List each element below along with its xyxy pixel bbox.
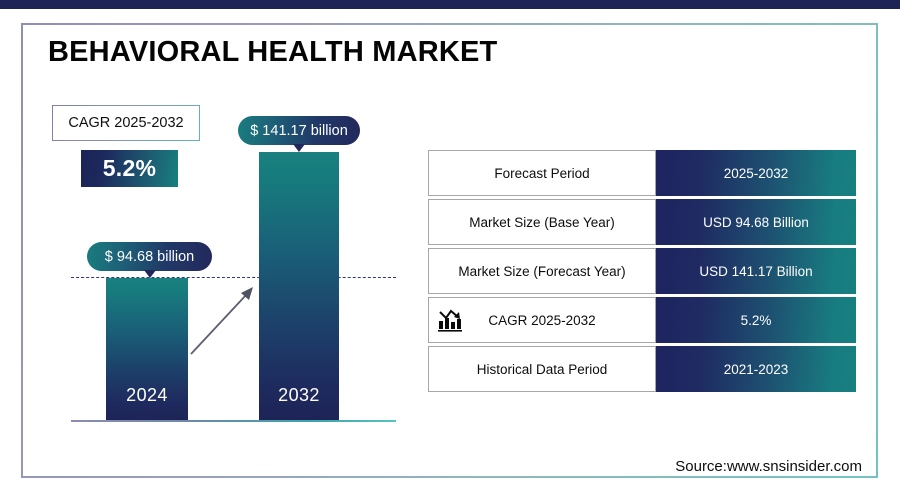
table-row-key-cell: Forecast Period (428, 150, 656, 196)
table-row-key: Market Size (Forecast Year) (458, 264, 625, 279)
table-row-value-cell: 2021-2023 (656, 346, 856, 392)
table-row: Market Size (Base Year) USD 94.68 Billio… (428, 199, 856, 245)
table-row-key-cell: CAGR 2025-2032 (428, 297, 656, 343)
table-row-key-cell: Historical Data Period (428, 346, 656, 392)
table-row-key: Market Size (Base Year) (469, 215, 615, 230)
table-row: Market Size (Forecast Year) USD 141.17 B… (428, 248, 856, 294)
table-row: Forecast Period 2025-2032 (428, 150, 856, 196)
table-row-key: Historical Data Period (477, 362, 608, 377)
infographic-canvas: BEHAVIORAL HEALTH MARKET CAGR 2025-2032 … (0, 0, 900, 500)
table-row-value-cell: 5.2% (656, 297, 856, 343)
table-row: CAGR 2025-2032 5.2% (428, 297, 856, 343)
chart-baseline-axis (71, 420, 396, 422)
table-row-value-cell: USD 141.17 Billion (656, 248, 856, 294)
table-row: Historical Data Period 2021-2023 (428, 346, 856, 392)
table-row-key: Forecast Period (494, 166, 589, 181)
bar-2032-label: 2032 (259, 385, 339, 406)
table-row-value: USD 141.17 Billion (699, 264, 812, 279)
value-callout-2024-text: $ 94.68 billion (105, 249, 195, 265)
bar-chart-trend-icon (437, 307, 463, 333)
value-callout-2032-text: $ 141.17 billion (250, 123, 348, 139)
bar-chart: $ 141.17 billion $ 94.68 billion 2024 20… (60, 110, 400, 430)
table-row-value: 5.2% (741, 313, 772, 328)
table-row-value: 2025-2032 (724, 166, 789, 181)
growth-arrow-icon (185, 280, 265, 360)
table-row-key-cell: Market Size (Base Year) (428, 199, 656, 245)
page-title: BEHAVIORAL HEALTH MARKET (48, 36, 497, 69)
value-callout-2024: $ 94.68 billion (87, 242, 212, 271)
table-row-value-cell: 2025-2032 (656, 150, 856, 196)
table-row-value: USD 94.68 Billion (703, 215, 809, 230)
table-row-key-cell: Market Size (Forecast Year) (428, 248, 656, 294)
bar-2024-label: 2024 (106, 385, 188, 406)
bar-2032: 2032 (259, 152, 339, 420)
table-row-key: CAGR 2025-2032 (488, 313, 595, 328)
table-row-value-cell: USD 94.68 Billion (656, 199, 856, 245)
bar-2024: 2024 (106, 278, 188, 420)
value-callout-2032: $ 141.17 billion (238, 116, 360, 145)
stats-table: Forecast Period 2025-2032 Market Size (B… (428, 150, 856, 395)
top-accent-bar (0, 0, 900, 9)
source-attribution: Source:www.snsinsider.com (675, 458, 862, 475)
table-row-value: 2021-2023 (724, 362, 789, 377)
